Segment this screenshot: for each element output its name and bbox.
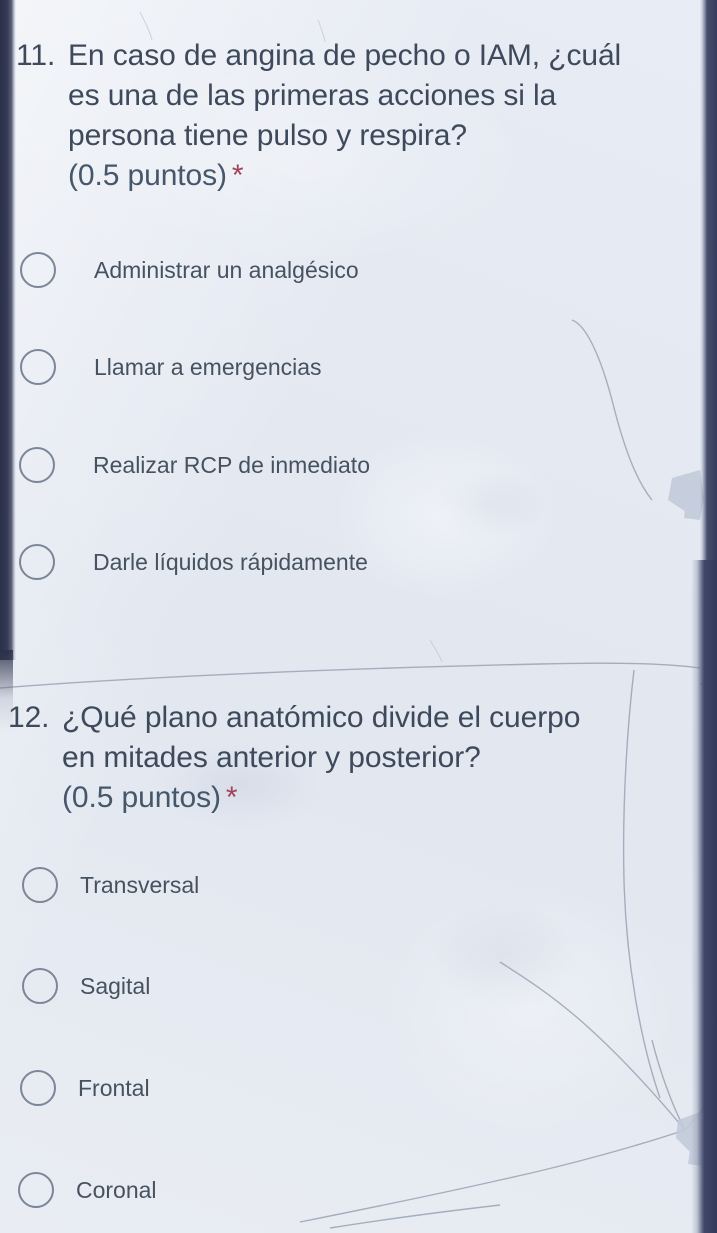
question-text-line: en mitades anterior y posterior? <box>62 738 717 778</box>
radio-button-icon[interactable] <box>22 968 58 1004</box>
option-row[interactable]: Realizar RCP de inmediato <box>0 440 699 490</box>
radio-button-icon[interactable] <box>19 544 55 580</box>
required-asterisk: * <box>226 781 238 814</box>
question-heading-11: 11. En caso de angina de pecho o IAM, ¿c… <box>0 36 717 196</box>
question-block-11: 11. En caso de angina de pecho o IAM, ¿c… <box>0 36 717 196</box>
question-number-12: 12. <box>0 698 62 738</box>
question-text-line: ¿Qué plano anatómico divide el cuerpo <box>62 698 717 738</box>
question-heading-12: 12. ¿Qué plano anatómico divide el cuerp… <box>0 698 717 818</box>
option-label: Realizar RCP de inmediato <box>93 450 370 480</box>
option-row[interactable]: Transversal <box>0 860 702 910</box>
option-row[interactable]: Darle líquidos rápidamente <box>0 537 699 587</box>
option-label: Darle líquidos rápidamente <box>93 547 368 577</box>
option-label: Frontal <box>78 1073 150 1103</box>
question-number-11: 11. <box>0 36 62 76</box>
option-label: Administrar un analgésico <box>94 255 359 285</box>
radio-button-icon[interactable] <box>19 447 55 483</box>
option-row[interactable]: Frontal <box>0 1063 700 1113</box>
question-points-11: (0.5 puntos) <box>68 159 227 192</box>
phone-screenshot: 11. En caso de angina de pecho o IAM, ¿c… <box>0 0 717 1233</box>
option-row[interactable]: Coronal <box>0 1165 698 1215</box>
question-points-12: (0.5 puntos) <box>62 781 221 814</box>
question-text-line: persona tiene pulso y respira? <box>68 116 717 156</box>
question-text-line: es una de las primeras acciones si la <box>68 76 717 116</box>
question-text-line: En caso de angina de pecho o IAM, ¿cuál <box>68 36 717 76</box>
option-row[interactable]: Administrar un analgésico <box>0 245 700 295</box>
radio-button-icon[interactable] <box>20 1070 56 1106</box>
option-row[interactable]: Llamar a emergencias <box>0 342 700 392</box>
radio-button-icon[interactable] <box>20 252 56 288</box>
question-block-12: 12. ¿Qué plano anatómico divide el cuerp… <box>0 698 717 818</box>
option-label: Llamar a emergencias <box>94 352 322 382</box>
option-label: Transversal <box>80 870 199 900</box>
option-row[interactable]: Sagital <box>0 961 702 1011</box>
required-asterisk: * <box>232 159 244 192</box>
option-label: Coronal <box>76 1175 157 1205</box>
radio-button-icon[interactable] <box>20 349 56 385</box>
option-label: Sagital <box>80 971 150 1001</box>
radio-button-icon[interactable] <box>22 867 58 903</box>
radio-button-icon[interactable] <box>18 1172 54 1208</box>
